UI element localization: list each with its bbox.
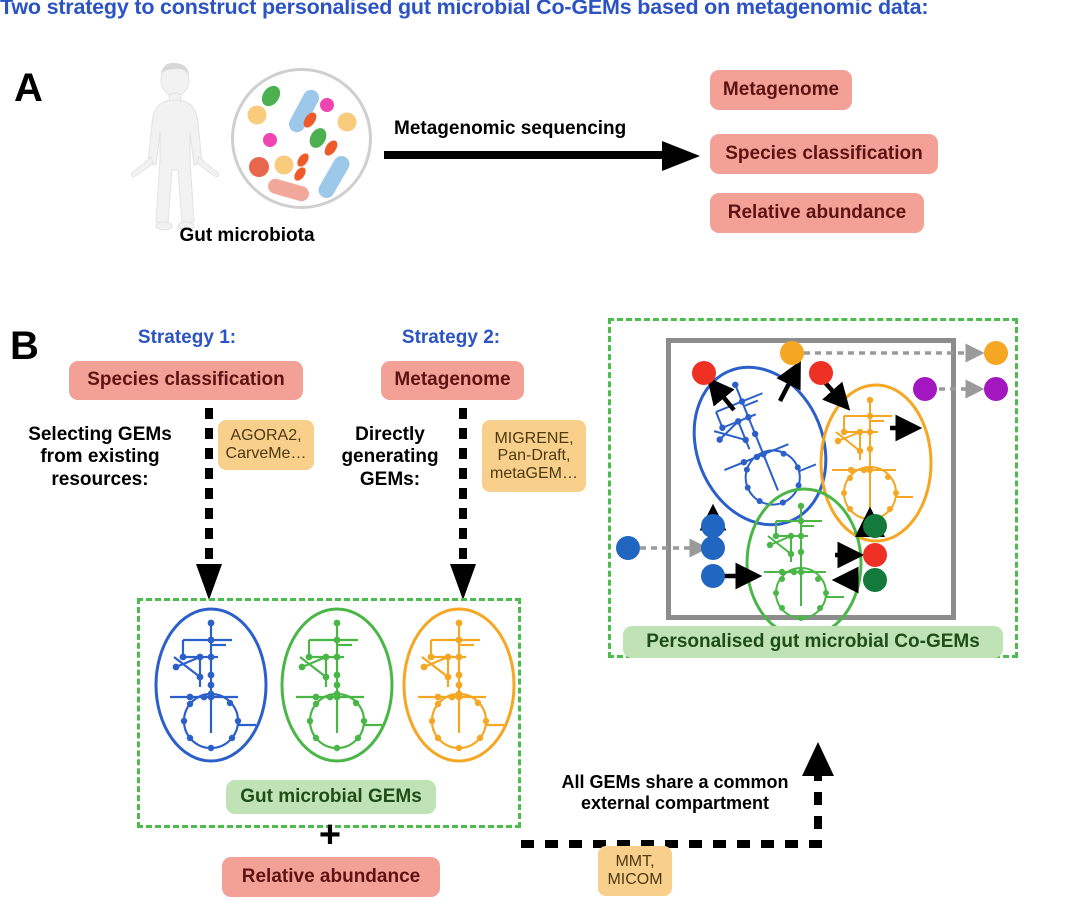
strategy-2-description: Directly generating GEMs: <box>330 424 450 491</box>
merge-note: All GEMs share a common external compart… <box>530 772 820 814</box>
panel-a-letter: A <box>14 68 43 108</box>
plus-sign: + <box>310 816 350 854</box>
panel-a-output-metagenome: Metagenome <box>710 70 852 110</box>
strategy-1-description-line-1: Selecting GEMs <box>8 424 192 446</box>
metagenomic-sequencing-label: Metagenomic sequencing <box>394 118 626 140</box>
gem-cell-blue <box>152 605 270 765</box>
strategy-2-tool-line-2: Pan-Draft, <box>498 447 571 465</box>
gem-cell-orange <box>400 605 518 765</box>
figure-title: Two strategy to construct personalised g… <box>0 0 1080 20</box>
gem-cell-green <box>278 605 396 765</box>
strategy-2-description-line-2: generating <box>330 446 450 468</box>
human-body-icon <box>120 62 230 232</box>
strategy-2-description-line-1: Directly <box>330 424 450 446</box>
strategy-1-description-line-2: from existing <box>8 446 192 468</box>
strategy-2-dashed-arrow <box>450 408 476 600</box>
panel-b-letter: B <box>10 326 39 366</box>
strategy-2-tool-line-3: metaGEM… <box>490 465 578 483</box>
strategy-1-tool-line-1: AGORA2, <box>230 427 301 445</box>
strategy-1-tool-line-2: CarveMe… <box>226 445 307 463</box>
merge-tool-line-1: MMT, <box>615 853 654 871</box>
panel-a-output-species-classification: Species classification <box>710 134 938 174</box>
strategy-1-dashed-arrow <box>196 408 222 600</box>
strategy-2-tools-box: MIGRENE, Pan-Draft, metaGEM… <box>482 420 586 492</box>
merge-tool-line-2: MICOM <box>607 871 662 889</box>
sequencing-arrow <box>384 140 704 170</box>
merge-note-line-2: external compartment <box>530 793 820 814</box>
strategy-1-tools-box: AGORA2, CarveMe… <box>218 420 314 470</box>
merge-note-line-1: All GEMs share a common <box>530 772 820 793</box>
gut-microbiota-icon <box>229 66 374 211</box>
personalised-cogems-label: Personalised gut microbial Co-GEMs <box>623 626 1003 658</box>
figure-root: Two strategy to construct personalised g… <box>0 0 1080 900</box>
relative-abundance-box: Relative abundance <box>222 857 440 897</box>
strategy-2-description-line-3: GEMs: <box>330 469 450 491</box>
strategy-1-input-box: Species classification <box>69 361 303 400</box>
strategy-1-heading: Strategy 1: <box>122 327 252 349</box>
strategy-1-description-line-3: resources: <box>8 469 192 491</box>
gut-microbial-gems-label: Gut microbial GEMs <box>226 780 436 814</box>
strategy-2-tool-line-1: MIGRENE, <box>494 430 573 448</box>
strategy-2-input-box: Metagenome <box>381 361 524 400</box>
strategy-1-description: Selecting GEMs from existing resources: <box>8 424 192 491</box>
strategy-2-heading: Strategy 2: <box>386 327 516 349</box>
panel-a-output-relative-abundance: Relative abundance <box>710 193 924 233</box>
cogems-network <box>608 318 1018 658</box>
gut-microbiota-caption: Gut microbiota <box>172 225 322 247</box>
merge-tools-box: MMT, MICOM <box>598 846 672 896</box>
